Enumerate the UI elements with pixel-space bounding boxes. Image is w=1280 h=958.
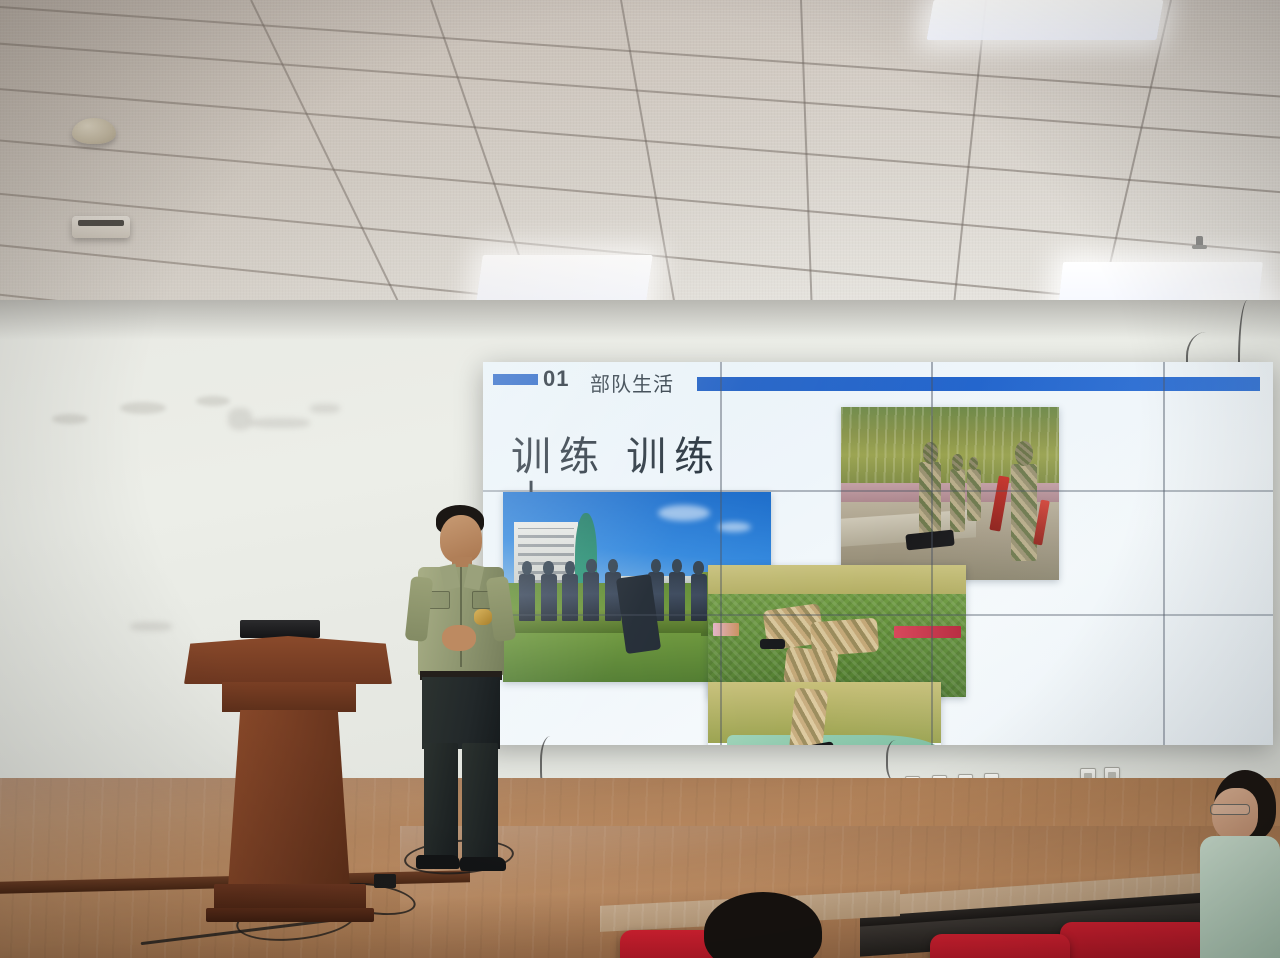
presenter-head [440,515,482,563]
slide-photo-road-march [841,407,1059,580]
wall-top-shadow [0,300,1280,340]
wooden-lectern[interactable] [178,616,398,936]
slide-section-number: 01 [543,366,569,392]
presenter-insignia [474,609,492,625]
audience-member-right [1196,770,1280,958]
panel-seam-horizontal-1 [483,490,1273,492]
presenter [398,505,518,875]
presenter-shirt-placket [460,567,462,667]
presenter-leg-right [462,743,498,861]
slide-photo-mat-jump [708,682,941,745]
audience-chair-1 [1060,922,1210,958]
panel-seam-vertical-1 [720,362,722,745]
presenter-leg-left [424,743,458,861]
photo-scene: 01 部队生活 训练 训练 十 [0,0,1280,958]
projection-video-wall[interactable]: 01 部队生活 训练 训练 十 [483,362,1273,745]
outlet-cable-3 [886,740,910,782]
audience-body-right [1200,836,1280,958]
lectern-monitor[interactable] [240,620,320,638]
slide-subheading-partial: 十 [513,470,555,492]
audience-hair-front [704,892,822,958]
panel-seam-horizontal-2 [483,614,1273,616]
audience-chair-2 [930,934,1070,958]
presenter-shoe-left [416,855,460,869]
presenter-trousers [422,677,500,749]
header-accent-bar [697,377,1260,391]
slide-section-title: 部队生活 [590,368,674,397]
panel-seam-vertical-3 [1163,362,1165,745]
presenter-shoe-right [460,857,506,871]
glasses-icon [1210,804,1250,815]
lectern-top [184,636,392,684]
lectern-base [214,884,366,910]
lectern-body [228,710,350,888]
slide-photo-ground-drill [708,565,966,697]
header-accent-chip [493,374,538,385]
audience-member-front [690,892,850,958]
lectern-plinth [206,908,374,922]
lectern-neck [222,682,356,712]
presenter-hands [442,625,476,651]
panel-seam-vertical-2 [931,362,933,745]
presentation-slide: 01 部队生活 训练 训练 十 [483,362,1273,745]
